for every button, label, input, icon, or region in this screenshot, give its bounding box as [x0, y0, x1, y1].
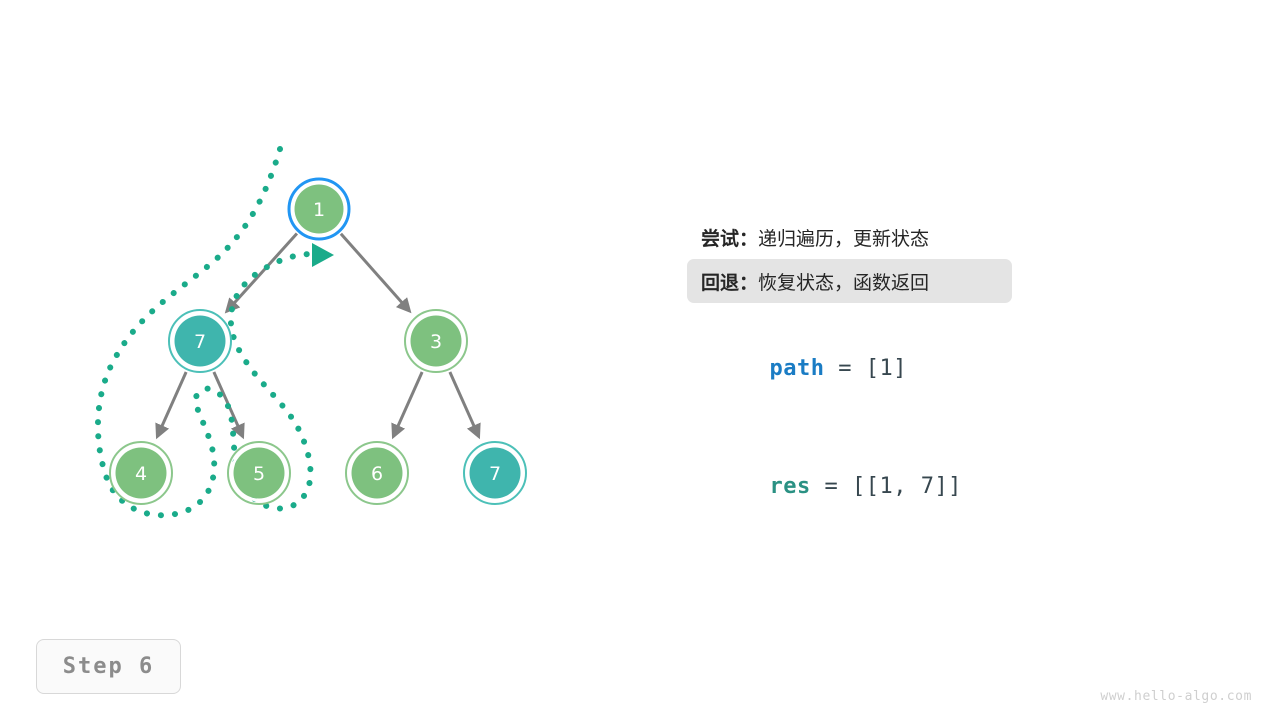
tree-node-1-n1[interactable]: 1 [289, 179, 349, 239]
trace-arrow-head-icon [312, 243, 334, 267]
tree-node-7-n7[interactable]: 7 [464, 442, 526, 504]
node-value-label: 7 [489, 463, 501, 485]
hint-backtrack-value: 恢复状态，函数返回 [758, 268, 929, 295]
tree-edge-n1-n3 [341, 234, 410, 311]
res-variable-line: res = [[1, 7]] [687, 449, 962, 524]
tree-node-6-n6[interactable]: 6 [346, 442, 408, 504]
node-value-label: 4 [135, 463, 147, 485]
tree-nodes: 1734567 [110, 179, 526, 504]
diagram-canvas: 1734567 尝试： 递归遍历，更新状态 回退： 恢复状态，函数返回 path… [0, 0, 1280, 720]
tree-edge-n3-n6 [393, 372, 422, 436]
hint-row-try: 尝试： 递归遍历，更新状态 [687, 215, 1012, 259]
node-value-label: 7 [194, 331, 206, 353]
res-variable-name: res [769, 474, 810, 499]
binary-tree-diagram: 1734567 [0, 0, 1280, 720]
res-variable-value: = [[1, 7]] [811, 474, 962, 499]
node-value-label: 1 [313, 199, 325, 221]
node-value-label: 6 [371, 463, 383, 485]
step-badge: Step 6 [36, 639, 181, 694]
hint-try-value: 递归遍历，更新状态 [758, 224, 929, 251]
explanation-panel: 尝试： 递归遍历，更新状态 回退： 恢复状态，函数返回 path = [1] r… [687, 215, 1087, 303]
path-variable-name: path [769, 356, 824, 381]
hint-backtrack-key: 回退： [701, 268, 758, 295]
tree-edge-n2-n4 [157, 372, 186, 436]
tree-node-3-n3[interactable]: 3 [405, 310, 467, 372]
tree-edge-n1-n2 [227, 234, 297, 312]
hint-row-backtrack: 回退： 恢复状态，函数返回 [687, 259, 1012, 303]
hint-try-key: 尝试： [701, 224, 758, 251]
tree-edge-n3-n7 [450, 372, 479, 436]
path-variable-line: path = [1] [687, 331, 907, 406]
path-variable-value: = [1] [824, 356, 906, 381]
tree-node-7-n2[interactable]: 7 [169, 310, 231, 372]
site-watermark: www.hello-algo.com [1100, 689, 1252, 704]
tree-node-5-n5[interactable]: 5 [228, 442, 290, 504]
node-value-label: 3 [430, 331, 442, 353]
tree-node-4-n4[interactable]: 4 [110, 442, 172, 504]
node-value-label: 5 [253, 463, 265, 485]
